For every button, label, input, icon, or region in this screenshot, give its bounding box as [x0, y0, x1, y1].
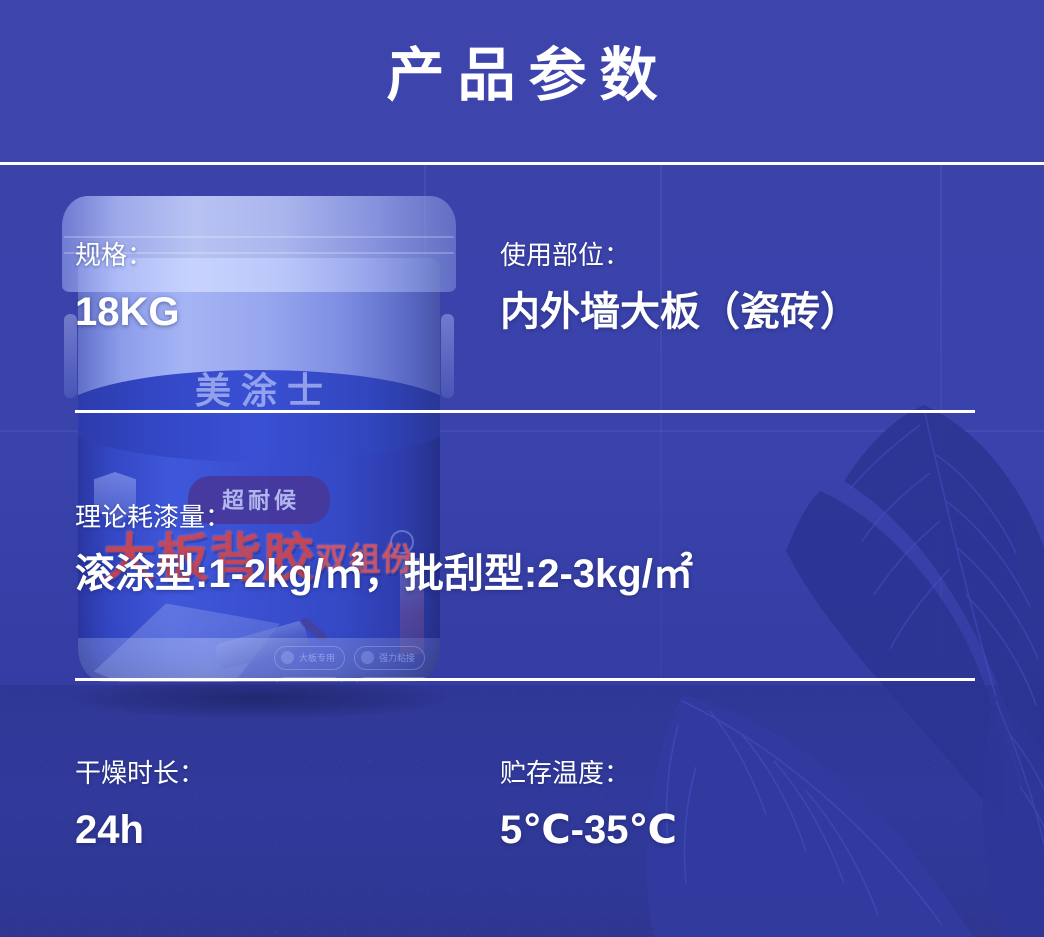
spec-divider — [75, 410, 975, 413]
spec-item-drying-time: 干燥时长： 24h — [75, 758, 205, 853]
spec-divider — [75, 678, 975, 681]
spec-item-application-area: 使用部位： 内外墙大板（瓷砖） — [500, 240, 860, 335]
spec-label: 贮存温度： — [500, 758, 677, 789]
spec-item-storage-temperature: 贮存温度： 5℃-35℃ — [500, 758, 677, 853]
brand-logo-text: 美涂士 — [78, 362, 440, 414]
header-divider — [0, 162, 1044, 165]
spec-label: 理论耗漆量： — [75, 502, 693, 533]
spec-item-specification: 规格： 18KG — [75, 240, 180, 335]
spec-value: 内外墙大板（瓷砖） — [500, 289, 860, 335]
spec-label: 干燥时长： — [75, 758, 205, 789]
bucket-bottom-band — [78, 638, 440, 682]
wall-seam — [940, 163, 942, 685]
page-title: 产品参数 — [0, 44, 1044, 108]
bucket-shadow — [72, 678, 446, 718]
spec-value: 滚涂型:1-2kg/㎡，批刮型:2-3kg/㎡ — [75, 551, 693, 597]
spec-value: 18KG — [75, 289, 180, 335]
spec-label: 规格： — [75, 240, 180, 271]
spec-value: 24h — [75, 807, 205, 853]
bucket-handle-right — [441, 314, 454, 398]
spec-value: 5℃-35℃ — [500, 807, 677, 853]
spec-label: 使用部位： — [500, 240, 860, 271]
product-spec-page: 美涂士 超耐候 大板背胶双组份 大板专用 强力粘接 — [0, 0, 1044, 937]
spec-item-paint-consumption: 理论耗漆量： 滚涂型:1-2kg/㎡，批刮型:2-3kg/㎡ — [75, 502, 693, 597]
lid-band — [64, 236, 454, 238]
